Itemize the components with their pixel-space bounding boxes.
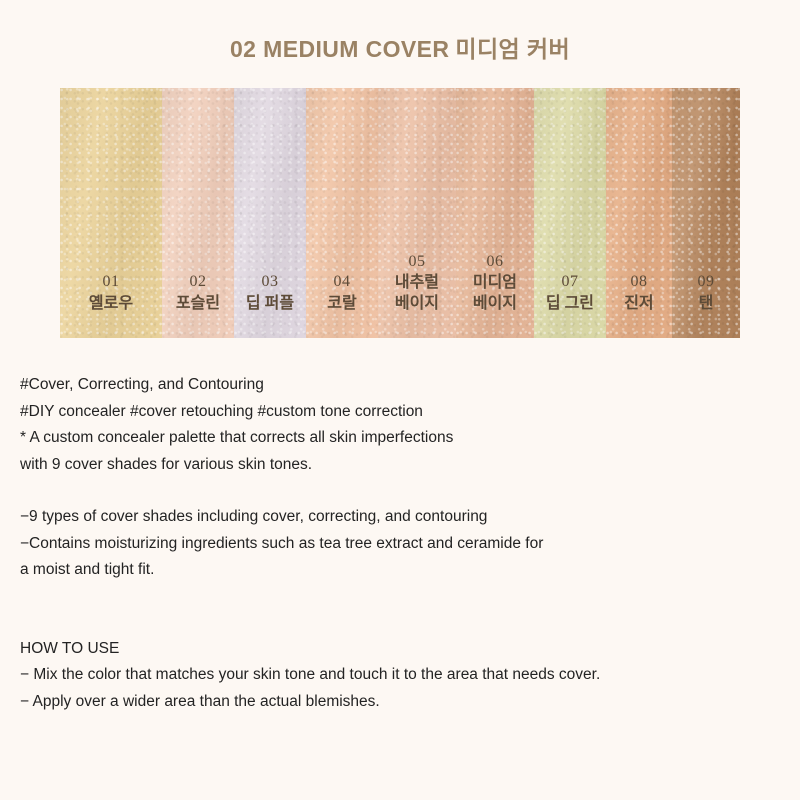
shade-name: 미디엄 베이지 bbox=[473, 273, 517, 314]
page-title-code: 02 MEDIUM COVER bbox=[230, 36, 449, 62]
description-block-details: −9 types of cover shades including cover… bbox=[20, 504, 780, 584]
description-line: * A custom concealer palette that correc… bbox=[20, 425, 780, 452]
shade-swatch-06[interactable]: 06미디엄 베이지 bbox=[456, 88, 534, 338]
description-line: − Mix the color that matches your skin t… bbox=[20, 662, 780, 689]
section-spacer bbox=[20, 584, 780, 636]
shade-name: 진저 bbox=[624, 294, 653, 314]
shade-number: 09 bbox=[697, 272, 714, 292]
shade-swatch-05[interactable]: 05내추럴 베이지 bbox=[378, 88, 456, 338]
description-line: − Apply over a wider area than the actua… bbox=[20, 689, 780, 716]
shade-swatch-03[interactable]: 03딥 퍼플 bbox=[234, 88, 306, 338]
shade-swatch-04[interactable]: 04코랄 bbox=[306, 88, 378, 338]
shade-swatch-list: 01옐로우02포슬린03딥 퍼플04코랄05내추럴 베이지06미디엄 베이지07… bbox=[60, 88, 740, 338]
shade-number: 05 bbox=[408, 252, 425, 272]
page-title: 02 MEDIUM COVER미디엄 커버 bbox=[230, 30, 570, 64]
shade-number: 02 bbox=[189, 272, 206, 292]
paragraph-spacer bbox=[20, 478, 780, 504]
description-line: #Cover, Correcting, and Contouring bbox=[20, 372, 780, 399]
shade-swatch-08[interactable]: 08진저 bbox=[606, 88, 672, 338]
shade-number: 06 bbox=[486, 252, 503, 272]
description-line: −Contains moisturizing ingredients such … bbox=[20, 531, 780, 558]
description-line: a moist and tight fit. bbox=[20, 557, 780, 584]
description-line: with 9 cover shades for various skin ton… bbox=[20, 452, 780, 479]
shade-name: 코랄 bbox=[327, 294, 356, 314]
shade-name: 딥 퍼플 bbox=[246, 294, 294, 314]
shade-number: 01 bbox=[103, 272, 120, 292]
shade-swatch-09[interactable]: 09탠 bbox=[672, 88, 740, 338]
page-header: 02 MEDIUM COVER미디엄 커버 bbox=[0, 0, 800, 64]
product-description: #Cover, Correcting, and Contouring #DIY … bbox=[20, 372, 780, 715]
description-line: #DIY concealer #cover retouching #custom… bbox=[20, 399, 780, 426]
shade-number: 08 bbox=[630, 272, 647, 292]
shade-number: 04 bbox=[333, 272, 350, 292]
shade-name: 옐로우 bbox=[89, 294, 133, 314]
shade-number: 07 bbox=[561, 272, 578, 292]
shade-swatch-01[interactable]: 01옐로우 bbox=[60, 88, 162, 338]
shade-number: 03 bbox=[261, 272, 278, 292]
shade-name: 탠 bbox=[699, 294, 714, 314]
shade-swatch-02[interactable]: 02포슬린 bbox=[162, 88, 234, 338]
how-to-use-heading: HOW TO USE bbox=[20, 636, 780, 663]
shade-name: 포슬린 bbox=[176, 294, 220, 314]
shade-name: 딥 그린 bbox=[546, 294, 594, 314]
description-block-how-to-use: HOW TO USE − Mix the color that matches … bbox=[20, 636, 780, 716]
description-block-features: #Cover, Correcting, and Contouring #DIY … bbox=[20, 372, 780, 478]
shade-name: 내추럴 베이지 bbox=[395, 273, 439, 314]
shade-palette: 01옐로우02포슬린03딥 퍼플04코랄05내추럴 베이지06미디엄 베이지07… bbox=[60, 88, 740, 338]
description-line: −9 types of cover shades including cover… bbox=[20, 504, 780, 531]
page-title-korean: 미디엄 커버 bbox=[449, 36, 570, 62]
shade-swatch-07[interactable]: 07딥 그린 bbox=[534, 88, 606, 338]
